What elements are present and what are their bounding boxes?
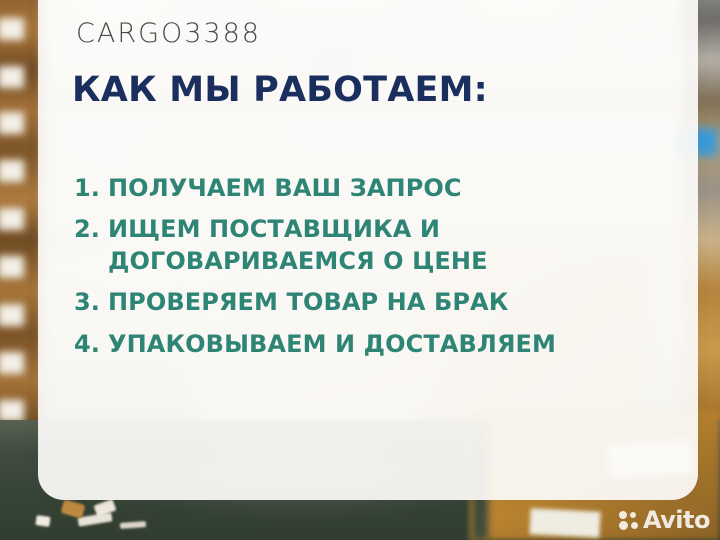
step-number: 4.	[74, 328, 108, 360]
list-item: 1. ПОЛУЧАЕМ ВАШ ЗАПРОС	[74, 172, 674, 204]
list-item: 2. ИЩЕМ ПОСТАВЩИКА И ДОГОВАРИВАЕМСЯ О ЦЕ…	[74, 213, 674, 277]
avito-watermark: Avito	[619, 508, 710, 532]
floor-debris	[35, 515, 50, 527]
page-title: КАК МЫ РАБОТАЕМ:	[72, 70, 488, 110]
step-number: 3.	[74, 286, 108, 318]
background-left-labels	[0, 0, 36, 460]
step-number: 1.	[74, 172, 108, 204]
step-label: ПОЛУЧАЕМ ВАШ ЗАПРОС	[108, 172, 674, 204]
background-pallet-label	[529, 508, 600, 538]
avito-watermark-label: Avito	[643, 508, 710, 532]
brand-logo: CARGO3388	[76, 18, 261, 49]
steps-list: 1. ПОЛУЧАЕМ ВАШ ЗАПРОС 2. ИЩЕМ ПОСТАВЩИК…	[74, 172, 674, 369]
promo-image: CARGO3388 КАК МЫ РАБОТАЕМ: 1. ПОЛУЧАЕМ В…	[0, 0, 720, 540]
list-item: 4. УПАКОВЫВАЕМ И ДОСТАВЛЯЕМ	[74, 328, 674, 360]
step-label: УПАКОВЫВАЕМ И ДОСТАВЛЯЕМ	[108, 328, 674, 360]
step-label: ИЩЕМ ПОСТАВЩИКА И ДОГОВАРИВАЕМСЯ О ЦЕНЕ	[108, 213, 674, 277]
step-number: 2.	[74, 213, 108, 245]
step-label: ПРОВЕРЯЕМ ТОВАР НА БРАК	[108, 286, 674, 318]
list-item: 3. ПРОВЕРЯЕМ ТОВАР НА БРАК	[74, 286, 674, 318]
content-card: CARGO3388 КАК МЫ РАБОТАЕМ: 1. ПОЛУЧАЕМ В…	[38, 0, 698, 500]
avito-dots-icon	[619, 511, 638, 530]
